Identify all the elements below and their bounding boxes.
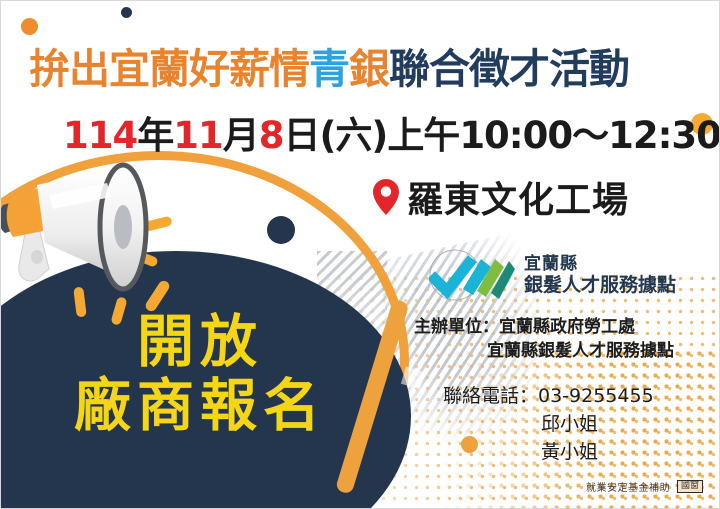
contact-person-2: 黃小姐: [443, 438, 654, 466]
contact-block: 聯絡電話：03-9255455 邱小姐 黃小姐: [443, 382, 654, 466]
date-weekday: (六): [319, 114, 387, 157]
decorative-dot-navy-top-left: [121, 7, 132, 18]
footer-block: 就業安定基金補助 國窗: [586, 479, 703, 494]
headline-block: 開放 廠商報名: [25, 311, 375, 439]
contact-person-1: 邱小姐: [443, 410, 654, 438]
date-period: 上午: [387, 114, 459, 157]
date-year-unit: 年: [137, 114, 173, 157]
logo-line-1: 宜蘭縣: [524, 254, 676, 274]
checkmark-swoosh-icon: [429, 249, 515, 301]
poster-title: 拚出宜蘭好薪情青銀聯合徵才活動: [29, 35, 701, 95]
organizer-line-2: 宜蘭縣銀髮人才服務據點: [414, 339, 674, 363]
headline-line-2: 廠商報名: [25, 375, 375, 439]
title-part-4: 聯合徵才活動: [389, 45, 629, 93]
venue-name: 羅東文化工場: [407, 171, 629, 223]
decorative-dot-navy-middle: [267, 216, 295, 244]
organization-logo: 宜蘭縣 銀髮人才服務據點: [429, 249, 676, 301]
date-month-unit: 月: [223, 114, 259, 157]
title-part-2: 青: [309, 45, 349, 93]
decorative-dot-orange-top-left: [21, 18, 38, 35]
venue-block: 羅東文化工場: [373, 171, 629, 223]
logo-text-block: 宜蘭縣 銀髮人才服務據點: [524, 254, 676, 296]
poster: 拚出宜蘭好薪情青銀聯合徵才活動 114年11月8日(六)上午10:00～12:3…: [0, 0, 720, 509]
contact-phone: 聯絡電話：03-9255455: [443, 385, 654, 407]
date-day-unit: 日: [283, 114, 319, 157]
date-day: 8: [259, 114, 284, 157]
footer-funding-text: 就業安定基金補助: [586, 479, 670, 494]
map-pin-icon: [373, 179, 399, 215]
time-end: 12:30: [608, 114, 720, 157]
footer-badge-logo: 國窗: [677, 480, 703, 493]
time-separator: ～: [572, 114, 608, 157]
megaphone-icon: [0, 161, 172, 306]
date-month: 11: [173, 114, 223, 157]
organizer-line-1: 主辦單位：宜蘭縣政府勞工處: [414, 317, 635, 337]
headline-line-1: 開放: [25, 311, 375, 375]
logo-line-2: 銀髮人才服務據點: [524, 274, 676, 296]
title-part-3: 銀: [349, 45, 389, 93]
event-date-time: 114年11月8日(六)上午10:00～12:30: [63, 105, 720, 159]
organizer-block: 主辦單位：宜蘭縣政府勞工處 宜蘭縣銀髮人才服務據點: [414, 315, 674, 363]
date-year: 114: [63, 114, 137, 157]
title-part-1: 拚出宜蘭好薪情: [29, 45, 309, 93]
time-start: 10:00: [459, 114, 572, 157]
